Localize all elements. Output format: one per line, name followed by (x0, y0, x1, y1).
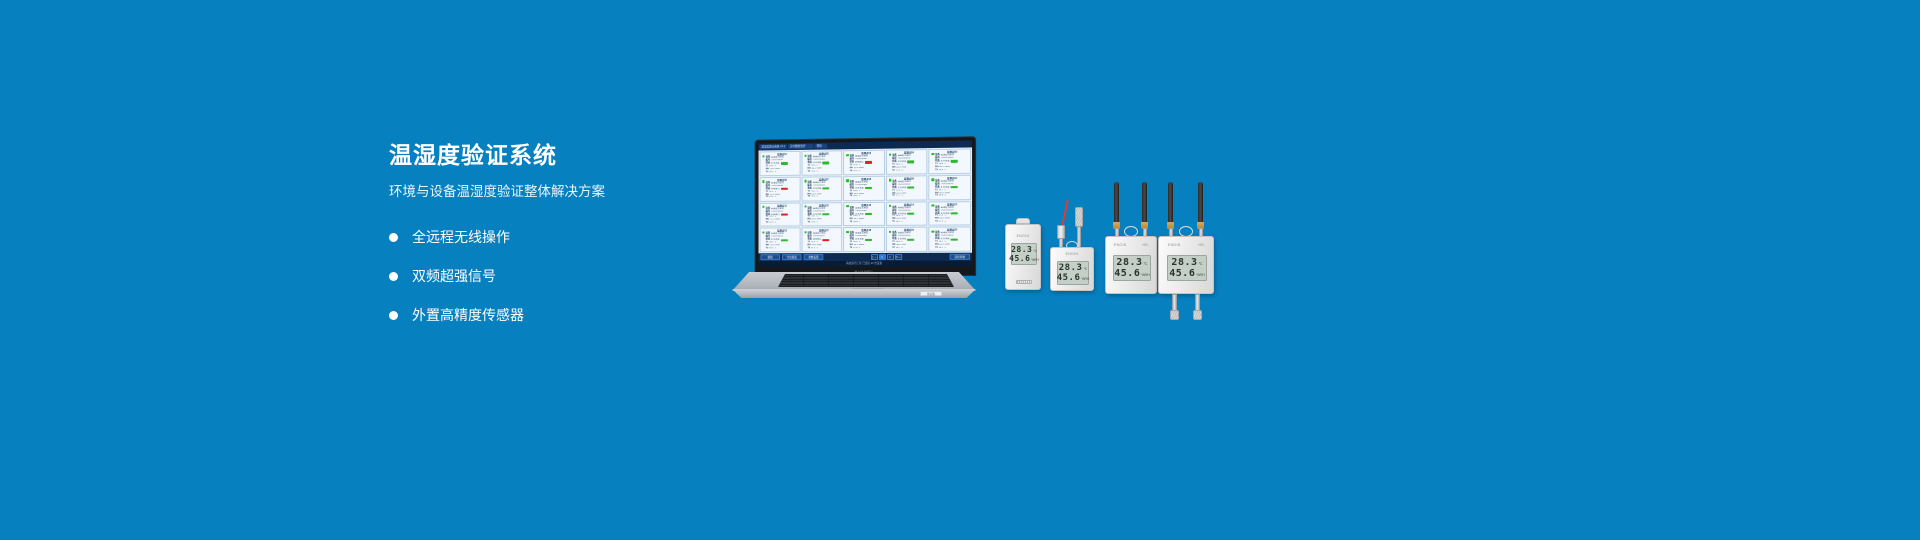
monitor-card[interactable]: 监测点06设备温湿度记录仪编号TS20250006状态超限报警T132.2 ℃R… (760, 176, 801, 201)
monitor-card-key: T2 (892, 169, 895, 172)
page-2[interactable]: 2 (887, 254, 894, 260)
monitor-card-body: 监测点03设备温湿度记录仪编号TS20250003状态超限报警T131.8 ℃R… (849, 152, 883, 173)
humidity-value: 45.6 (1009, 254, 1030, 263)
monitor-card-value: 31.2 ℃ (811, 247, 818, 250)
monitor-card-row: T228.7 ℃ (892, 247, 925, 250)
status-pill-alarm (781, 213, 788, 215)
bottom-probe-tip (1170, 310, 1179, 320)
keyboard-key[interactable] (854, 285, 866, 287)
monitor-card-row: T228.1 ℃ (935, 247, 969, 250)
humidity-value: 45.6 (1057, 273, 1081, 283)
monitor-card-body: 监测点18设备温湿度记录仪编号TS20250018状态正常采集T128.0 ℃R… (849, 229, 883, 250)
brand-text-left: ENGIN (1168, 243, 1181, 247)
export-report-button[interactable]: 导出报表 (782, 254, 802, 259)
device-brand-label: ENGIN HB (1106, 243, 1156, 247)
monitor-card-body: 监测点19设备温湿度记录仪编号TS20250019状态正常采集T128.8 ℃R… (891, 229, 925, 250)
monitor-card-body: 监测点06设备温湿度记录仪编号TS20250006状态超限报警T132.2 ℃R… (765, 178, 798, 199)
device-housing: ENGIN 28.3 ℃ 45.6 %RH (1005, 224, 1041, 290)
monitor-card-value: 32.8 ℃ (769, 222, 776, 225)
monitor-card-key: T2 (766, 196, 769, 199)
monitor-card-row: T228.6 ℃ (935, 195, 969, 198)
banner-copy: 温湿度验证系统 环境与设备温湿度验证整体解决方案 全远程无线操作 双频超强信号 … (389, 140, 719, 341)
keyboard-key[interactable] (841, 285, 853, 287)
laptop-base: 验证版 (720, 272, 988, 298)
monitor-card-row: T228.0 ℃ (807, 221, 840, 224)
list-item: 外置高精度传感器 (389, 302, 719, 328)
keyboard-key[interactable] (929, 285, 941, 287)
bullet-dot-icon (389, 233, 398, 242)
monitor-card-key: T2 (807, 170, 810, 173)
dashboard-tab-monitor[interactable]: 实时数据监控 (788, 144, 814, 150)
monitor-card-body: 监测点10设备温湿度记录仪编号TS20250010状态正常采集T128.7 ℃R… (934, 177, 969, 198)
monitor-card-body: 监测点17设备温湿度记录仪编号TS20250017状态超限报警T131.4 ℃R… (807, 229, 841, 250)
keyboard-key[interactable] (816, 285, 828, 287)
monitor-card[interactable]: 监测点15设备温湿度记录仪编号TS20250015状态正常采集T127.6 ℃R… (929, 201, 971, 226)
keyboard-key[interactable] (791, 285, 803, 287)
monitor-card-key: T2 (807, 196, 810, 199)
device-housing: ENGIN HB 28.3 ℃ 45.6 %RH (1158, 236, 1214, 294)
keyboard-key[interactable] (941, 285, 953, 287)
monitor-card-key: T2 (850, 221, 853, 224)
monitor-card-row: T228.2 ℃ (892, 221, 925, 224)
monitor-card[interactable]: 监测点18设备温湿度记录仪编号TS20250018状态正常采集T128.0 ℃R… (843, 227, 885, 252)
status-pill-ok (781, 162, 788, 164)
status-pill-ok (951, 212, 958, 214)
monitor-card-body: 监测点05设备温湿度记录仪编号TS20250005状态正常采集T128.6 ℃R… (934, 151, 969, 172)
probe-filter-tip (1075, 207, 1083, 227)
lcd-display: 28.3 ℃ 45.6 %RH (1011, 243, 1037, 265)
antenna-icon (1168, 182, 1173, 224)
feature-label: 全远程无线操作 (412, 227, 510, 247)
page-subtitle: 环境与设备温湿度验证整体解决方案 (389, 182, 719, 202)
refresh-button[interactable]: 刷新 (760, 254, 780, 259)
monitor-card-body: 监测点09设备温湿度记录仪编号TS20250009状态正常采集T127.8 ℃R… (891, 177, 925, 198)
monitor-card-row: T232.8 ℃ (766, 222, 799, 225)
monitor-card-value: 28.1 ℃ (939, 247, 946, 250)
lcd-humidity-line: 45.6 %RH (1116, 268, 1148, 279)
monitor-card-key: T2 (850, 247, 853, 250)
brand-text-left: ENGIN (1114, 243, 1127, 247)
monitor-card-row: T231.5 ℃ (850, 170, 883, 173)
pagination: 上一页 1 2 下一页 (870, 254, 901, 260)
monitor-card-row: T231.2 ℃ (807, 247, 840, 250)
lcd-humidity-line: 45.6 %RH (1014, 254, 1034, 263)
temperature-value: 28.3 (1171, 257, 1197, 268)
device-housing: ENGIN 28.3 ℃ 45.6 %RH (1050, 247, 1094, 291)
temperature-unit: ℃ (1033, 249, 1037, 253)
monitor-card-value: 28.4 ℃ (811, 170, 818, 173)
monitor-card-key: T2 (850, 196, 853, 199)
keyboard-key[interactable] (904, 285, 916, 287)
monitor-card-key: T2 (935, 221, 938, 224)
bottom-probe-tip (1193, 310, 1202, 320)
monitor-card-row: T228.4 ℃ (807, 170, 840, 173)
status-pill-ok (951, 160, 958, 162)
monitor-card[interactable]: 监测点20设备温湿度记录仪编号TS20250020状态正常采集T128.2 ℃R… (929, 227, 971, 252)
page-1[interactable]: 1 (878, 254, 885, 260)
monitor-card-row: T228.5 ℃ (935, 168, 969, 171)
brand-text-left: ENGIN (1066, 252, 1079, 256)
monitor-card[interactable]: 监测点04设备温湿度记录仪编号TS20250004状态正常采集T128.0 ℃R… (886, 149, 928, 174)
laptop-screen: 温湿度验证系统 V2.0 实时数据监控 帮助 监测点01设备温湿度记录仪编号TS… (759, 140, 973, 267)
monitor-card-key: T2 (807, 247, 810, 250)
humidity-value: 45.6 (1114, 268, 1140, 279)
device-logger-wireless-2: ENGIN HB 28.3 ℃ 45.6 %RH (1158, 182, 1214, 320)
monitor-card[interactable]: 监测点09设备温湿度记录仪编号TS20250009状态正常采集T127.8 ℃R… (886, 175, 928, 200)
status-pill-alarm (865, 161, 872, 163)
status-pill-ok (865, 213, 872, 215)
temperature-unit: ℃ (1199, 262, 1203, 266)
monitor-card-key: T2 (935, 169, 938, 172)
monitor-card-key: T2 (892, 221, 895, 224)
monitor-card-key: T2 (892, 195, 895, 198)
monitor-card[interactable]: 监测点02设备温湿度记录仪编号TS20250002状态正常采集T128.5 ℃R… (801, 150, 842, 175)
monitor-card-value: 28.0 ℃ (811, 222, 818, 225)
monitor-card-body: 监测点04设备温湿度记录仪编号TS20250004状态正常采集T128.0 ℃R… (891, 151, 925, 172)
monitor-card-row: T228.3 ℃ (850, 195, 883, 198)
humidity-value: 45.6 (1169, 268, 1195, 279)
monitor-card[interactable]: 监测点16设备温湿度记录仪编号TS20250016状态正常采集T128.5 ℃R… (760, 228, 801, 253)
monitor-card[interactable]: 监测点19设备温湿度记录仪编号TS20250019状态正常采集T128.8 ℃R… (886, 227, 928, 252)
monitor-card[interactable]: 监测点03设备温湿度记录仪编号TS20250003状态超限报警T131.8 ℃R… (843, 150, 885, 175)
monitor-card-value: 28.5 ℃ (939, 169, 946, 172)
humidity-unit: %RH (1196, 273, 1204, 277)
device-logger-wireless-1: ENGIN HB 28.3 ℃ 45.6 %RH (1105, 182, 1157, 294)
bottom-vent-icon (1016, 280, 1032, 284)
monitor-card-key: T2 (935, 247, 938, 250)
page-title: 温湿度验证系统 (389, 140, 719, 170)
monitor-card-value: 27.9 ℃ (896, 169, 903, 172)
temperature-value: 28.3 (1116, 257, 1142, 268)
lcd-humidity-line: 45.6 %RH (1060, 273, 1086, 283)
humidity-unit: %RH (1031, 258, 1038, 262)
antenna-icon (1198, 182, 1203, 224)
feature-list: 全远程无线操作 双频超强信号 外置高精度传感器 (389, 224, 719, 328)
humidity-unit: %RH (1081, 277, 1089, 281)
keyboard-key[interactable] (916, 285, 928, 287)
monitor-card-value: 28.6 ℃ (939, 195, 946, 198)
brand-text-left: ENGIN (1017, 234, 1030, 238)
monitor-card-value: 28.7 ℃ (896, 247, 903, 250)
monitor-card[interactable]: 监测点07设备温湿度记录仪编号TS20250007状态正常采集T128.2 ℃R… (801, 176, 842, 201)
feature-label: 双频超强信号 (412, 266, 496, 286)
dashboard-tab-help[interactable]: 帮助 (815, 143, 828, 149)
lcd-temperature-line: 28.3 ℃ (1060, 263, 1086, 273)
keyboard[interactable] (778, 274, 954, 287)
monitor-card-row: T228.8 ℃ (850, 221, 883, 224)
lcd-display: 28.3 ℃ 45.6 %RH (1057, 261, 1089, 285)
keyboard-key[interactable] (804, 285, 816, 287)
monitor-card-body: 监测点07设备温湿度记录仪编号TS20250007状态正常采集T128.2 ℃R… (807, 178, 841, 199)
laptop-deck (732, 272, 976, 291)
settings-button[interactable]: 参数设置 (804, 254, 824, 260)
lcd-temperature-line: 28.3 ℃ (1014, 245, 1034, 254)
lcd-display: 28.3 ℃ 45.6 %RH (1113, 255, 1151, 281)
promo-banner: 温湿度验证系统 环境与设备温湿度验证整体解决方案 全远程无线操作 双频超强信号 … (0, 0, 1920, 540)
status-pill-ok (951, 238, 958, 240)
keyboard-key[interactable] (829, 285, 841, 287)
monitor-card-key: T2 (935, 195, 938, 198)
lcd-temperature-line: 28.3 ℃ (1170, 257, 1204, 268)
lcd-display: 28.3 ℃ 45.6 %RH (1167, 255, 1207, 281)
brand-text-right: HB (1143, 243, 1149, 247)
monitor-card[interactable]: 监测点12设备温湿度记录仪编号TS20250012状态正常采集T128.1 ℃R… (801, 202, 842, 227)
antenna-icon (1142, 182, 1147, 224)
monitor-card-value: 28.4 ℃ (769, 247, 776, 250)
monitor-card[interactable]: 监测点01设备温湿度记录仪编号TS20250001状态正常采集T128.3 ℃R… (760, 151, 801, 176)
monitor-card[interactable]: 监测点08设备温湿度记录仪编号TS20250008状态正常采集T128.4 ℃R… (843, 176, 885, 201)
monitor-card-value: 27.7 ℃ (896, 195, 903, 198)
monitor-card-body: 监测点11设备温湿度记录仪编号TS20250011状态超限报警T133.1 ℃R… (765, 204, 798, 225)
monitor-card-body: 监测点14设备温湿度记录仪编号TS20250014状态正常采集T128.3 ℃R… (891, 203, 925, 224)
list-item: 全远程无线操作 (389, 224, 719, 250)
monitor-card-body: 监测点08设备温湿度记录仪编号TS20250008状态正常采集T128.4 ℃R… (849, 178, 883, 199)
temperature-value: 28.3 (1011, 245, 1032, 254)
monitor-card-key: T2 (807, 222, 810, 225)
device-housing: ENGIN HB 28.3 ℃ 45.6 %RH (1105, 236, 1157, 294)
monitor-card-row: T227.5 ℃ (935, 221, 969, 224)
list-item: 双频超强信号 (389, 263, 719, 289)
status-pill-ok (781, 239, 788, 241)
keyboard-key[interactable] (891, 285, 903, 287)
device-brand-label: ENGIN (1051, 252, 1093, 256)
antenna-icon (1114, 182, 1119, 224)
monitor-card[interactable]: 监测点05设备温湿度记录仪编号TS20250005状态正常采集T128.6 ℃R… (929, 148, 971, 174)
monitor-card[interactable]: 监测点17设备温湿度记录仪编号TS20250017状态超限报警T131.4 ℃R… (801, 227, 842, 252)
monitor-card[interactable]: 监测点13设备温湿度记录仪编号TS20250013状态正常采集T128.9 ℃R… (843, 201, 885, 226)
monitor-card-body: 监测点16设备温湿度记录仪编号TS20250016状态正常采集T128.5 ℃R… (765, 230, 798, 251)
keyboard-key[interactable] (866, 285, 878, 287)
feature-label: 外置高精度传感器 (412, 305, 524, 325)
keyboard-row (779, 285, 954, 287)
monitor-card-value: 31.5 ℃ (853, 170, 860, 173)
monitor-card-row: T227.7 ℃ (892, 195, 925, 198)
monitor-card-row: T228.1 ℃ (766, 171, 799, 174)
status-pill-ok (907, 238, 914, 240)
monitor-card-key: T2 (766, 171, 769, 174)
temperature-value: 28.3 (1059, 263, 1083, 273)
monitor-card-row: T228.1 ℃ (807, 196, 840, 199)
bullet-dot-icon (389, 311, 398, 320)
monitor-card-key: T2 (766, 222, 769, 225)
page-prev[interactable]: 上一页 (870, 254, 877, 260)
monitor-card[interactable]: 监测点10设备温湿度记录仪编号TS20250010状态正常采集T128.7 ℃R… (929, 175, 971, 200)
page-next[interactable]: 下一页 (895, 254, 902, 260)
monitor-card-key: T2 (766, 247, 769, 250)
monitor-card-body: 监测点02设备温湿度记录仪编号TS20250002状态正常采集T128.5 ℃R… (807, 152, 841, 173)
monitor-card-value: 28.3 ℃ (853, 196, 860, 199)
monitor-card-body: 监测点01设备温湿度记录仪编号TS20250001状态正常采集T128.3 ℃R… (765, 153, 798, 174)
humidity-unit: %RH (1141, 273, 1149, 277)
monitor-card-value: 27.9 ℃ (853, 247, 860, 250)
monitor-card-body: 监测点13设备温湿度记录仪编号TS20250013状态正常采集T128.9 ℃R… (849, 203, 883, 224)
dashboard-tab-system[interactable]: 温湿度验证系统 V2.0 (760, 144, 788, 150)
status-pill-ok (865, 239, 872, 241)
device-logger-compact: ENGIN 28.3 ℃ 45.6 %RH (1005, 218, 1041, 290)
monitor-card-key: T2 (892, 247, 895, 250)
monitor-card-body: 监测点12设备温湿度记录仪编号TS20250012状态正常采集T128.1 ℃R… (807, 204, 841, 225)
exit-button[interactable]: 退出系统 (950, 254, 970, 260)
lcd-humidity-line: 45.6 %RH (1170, 268, 1204, 279)
monitor-card-row: T232.0 ℃ (766, 196, 799, 199)
brand-text-right: HB (1199, 243, 1205, 247)
monitor-card-body: 监测点20设备温湿度记录仪编号TS20250020状态正常采集T128.2 ℃R… (934, 229, 969, 250)
monitor-card-row: T227.9 ℃ (892, 169, 925, 172)
status-pill-alarm (822, 239, 829, 241)
monitor-card-key: T2 (850, 170, 853, 173)
monitor-card-value: 28.8 ℃ (853, 221, 860, 224)
monitor-card[interactable]: 监测点14设备温湿度记录仪编号TS20250014状态正常采集T128.3 ℃R… (886, 201, 928, 226)
temperature-unit: ℃ (1144, 262, 1148, 266)
monitor-card-value: 27.5 ℃ (939, 221, 946, 224)
laptop-lid: 温湿度验证系统 V2.0 实时数据监控 帮助 监测点01设备温湿度记录仪编号TS… (755, 136, 976, 276)
monitor-card-body: 监测点15设备温湿度记录仪编号TS20250015状态正常采集T127.6 ℃R… (934, 203, 969, 224)
monitor-card-row: T227.9 ℃ (850, 247, 883, 250)
monitor-card-value: 32.0 ℃ (769, 196, 776, 199)
base-sticker: 验证版 (920, 291, 942, 296)
monitor-card-value: 28.1 ℃ (769, 171, 776, 174)
temperature-unit: ℃ (1083, 267, 1087, 271)
laptop-product-image: 温湿度验证系统 V2.0 实时数据监控 帮助 监测点01设备温湿度记录仪编号TS… (720, 138, 988, 298)
status-pill-ok (907, 161, 914, 163)
monitor-card-row: T228.4 ℃ (766, 247, 799, 250)
probe-connector (1057, 225, 1065, 239)
device-brand-label: ENGIN HB (1159, 243, 1213, 247)
probe-cable (1061, 199, 1069, 227)
status-pill-ok (822, 213, 829, 215)
monitor-card[interactable]: 监测点11设备温湿度记录仪编号TS20250011状态超限报警T133.1 ℃R… (760, 202, 801, 227)
keyboard-key[interactable] (879, 285, 891, 287)
device-logger-probe: ENGIN 28.3 ℃ 45.6 %RH (1050, 195, 1094, 291)
monitor-card-value: 28.2 ℃ (896, 221, 903, 224)
keyboard-key[interactable] (779, 285, 791, 287)
monitor-card-grid: 监测点01设备温湿度记录仪编号TS20250001状态正常采集T128.3 ℃R… (759, 147, 973, 253)
lcd-temperature-line: 28.3 ℃ (1116, 257, 1148, 268)
status-pill-ok (822, 162, 829, 164)
laptop-front-edge: 验证版 (720, 289, 988, 298)
bullet-dot-icon (389, 272, 398, 281)
status-pill-ok (907, 213, 914, 215)
device-brand-label: ENGIN (1006, 234, 1040, 238)
monitor-card-value: 28.1 ℃ (811, 196, 818, 199)
